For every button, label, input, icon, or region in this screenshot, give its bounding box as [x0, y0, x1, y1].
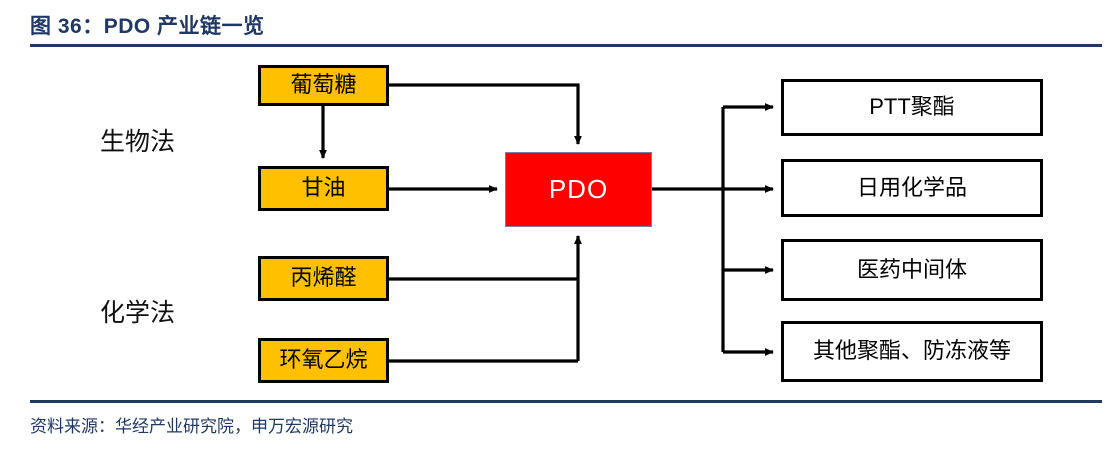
node-pharma-intermediates[interactable]: 医药中间体 — [781, 239, 1043, 301]
figure-page: 图 36：PDO 产业链一览 — [0, 0, 1120, 455]
node-glycerol-label: 甘油 — [301, 176, 345, 200]
node-ethylene-oxide[interactable]: 环氧乙烷 — [258, 338, 389, 383]
node-glucose-label: 葡萄糖 — [290, 73, 356, 97]
group-label-bio: 生物法 — [100, 122, 175, 158]
group-label-chem: 化学法 — [100, 293, 175, 329]
diagram-canvas: 生物法 化学法 葡萄糖 甘油 丙烯醛 环氧乙烷 PDO PTT聚酯 日用化学品 … — [0, 50, 1120, 398]
page-title: 图 36：PDO 产业链一览 — [30, 10, 265, 40]
node-ptt-polyester-label: PTT聚酯 — [869, 95, 955, 119]
header-divider — [30, 44, 1102, 47]
node-daily-chemicals-label: 日用化学品 — [857, 176, 967, 200]
node-glucose[interactable]: 葡萄糖 — [258, 65, 389, 106]
node-acrolein-label: 丙烯醛 — [290, 266, 356, 290]
node-pdo[interactable]: PDO — [505, 152, 652, 227]
node-other-polyester[interactable]: 其他聚酯、防冻液等 — [781, 321, 1043, 382]
node-ptt-polyester[interactable]: PTT聚酯 — [781, 79, 1043, 136]
node-other-polyester-label: 其他聚酯、防冻液等 — [813, 339, 1011, 363]
footer-divider — [30, 400, 1102, 403]
node-pharma-intermediates-label: 医药中间体 — [857, 258, 967, 282]
node-glycerol[interactable]: 甘油 — [258, 166, 389, 211]
source-note: 资料来源：华经产业研究院，申万宏源研究 — [30, 412, 353, 437]
node-daily-chemicals[interactable]: 日用化学品 — [781, 159, 1043, 217]
edge-glucose-pdo — [389, 85, 578, 144]
node-ethylene-oxide-label: 环氧乙烷 — [279, 348, 367, 372]
node-acrolein[interactable]: 丙烯醛 — [258, 256, 389, 301]
node-pdo-label: PDO — [549, 175, 608, 204]
